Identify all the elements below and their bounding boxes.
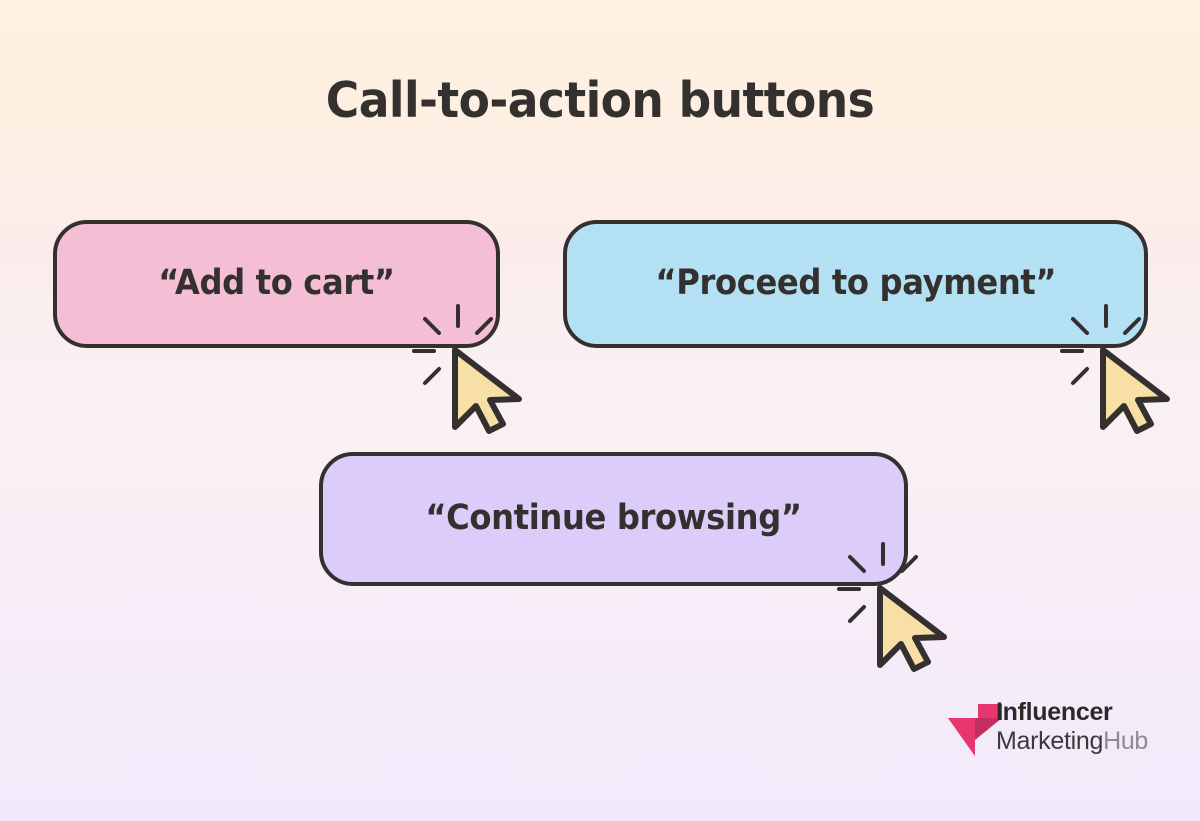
cta-button-add-to-cart[interactable]: “Add to cart”	[53, 220, 500, 348]
cta-label-add-to-cart: “Add to cart”	[158, 263, 394, 303]
cta-button-proceed-to-payment[interactable]: “Proceed to payment”	[563, 220, 1148, 348]
brand-logo[interactable]: Influencer MarketingHub	[948, 698, 1170, 760]
cta-label-proceed-to-payment: “Proceed to payment”	[655, 263, 1056, 303]
arrow-pointer-icon	[880, 588, 944, 669]
brand-logo-word-hub: Hub	[1103, 727, 1148, 755]
brand-logo-line-marketinghub: MarketingHub	[996, 726, 1172, 756]
arrow-pointer-icon	[1103, 350, 1167, 431]
cta-label-continue-browsing: “Continue browsing”	[425, 498, 801, 538]
cta-button-continue-browsing[interactable]: “Continue browsing”	[319, 452, 908, 586]
brand-logo-word-marketing: Marketing	[996, 727, 1103, 755]
pink-arrow-icon	[948, 702, 1002, 756]
brand-logo-text: Influencer MarketingHub	[996, 698, 1172, 756]
poster-canvas: Call-to-action buttons “Add to cart” “Pr…	[0, 0, 1200, 821]
arrow-pointer-icon	[455, 350, 519, 431]
brand-logo-line-influencer: Influencer	[996, 698, 1172, 726]
page-title: Call-to-action buttons	[42, 72, 1158, 129]
